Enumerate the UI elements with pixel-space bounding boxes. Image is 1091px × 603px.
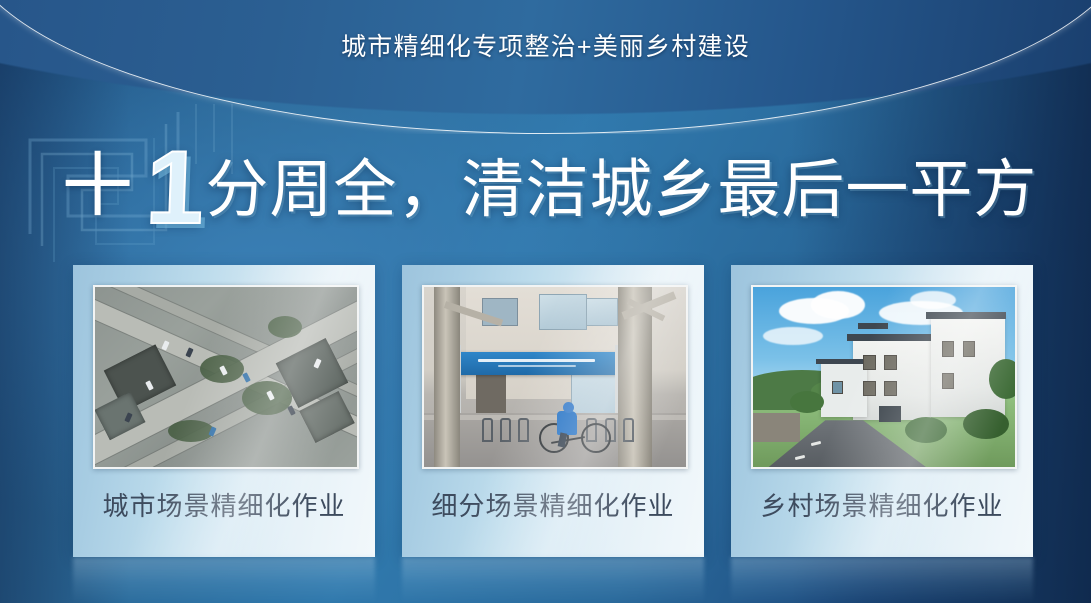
scene-card[interactable]: 城市场景精细化作业 <box>73 265 375 557</box>
card-reflection <box>731 557 1033 603</box>
card-reflection <box>402 557 704 603</box>
number-one-glyph: 1 <box>144 136 205 240</box>
plus-sign-glyph: ＋ <box>54 142 142 230</box>
card-photo <box>93 285 359 469</box>
scene-card[interactable]: 细分场景精细化作业 <box>402 265 704 557</box>
scene-card[interactable]: 乡村场景精细化作业 <box>731 265 1033 557</box>
slide-canvas: 城市精细化专项整治+美丽乡村建设 ＋ 1 分周全，清洁城乡最后一平方 <box>0 0 1091 603</box>
scene-card-list: 城市场景精细化作业 <box>73 265 1033 557</box>
card-label: 细分场景精细化作业 <box>402 486 704 523</box>
card-label: 城市场景精细化作业 <box>73 486 375 523</box>
page-title: 城市精细化专项整治+美丽乡村建设 <box>0 27 1091 63</box>
card-photo <box>422 285 688 469</box>
card-reflection <box>73 557 375 603</box>
card-photo <box>751 285 1017 469</box>
headline-text: 分周全，清洁城乡最后一平方 <box>205 159 1037 222</box>
card-label: 乡村场景精细化作业 <box>731 486 1033 523</box>
headline: ＋ 1 分周全，清洁城乡最后一平方 <box>0 142 1091 238</box>
